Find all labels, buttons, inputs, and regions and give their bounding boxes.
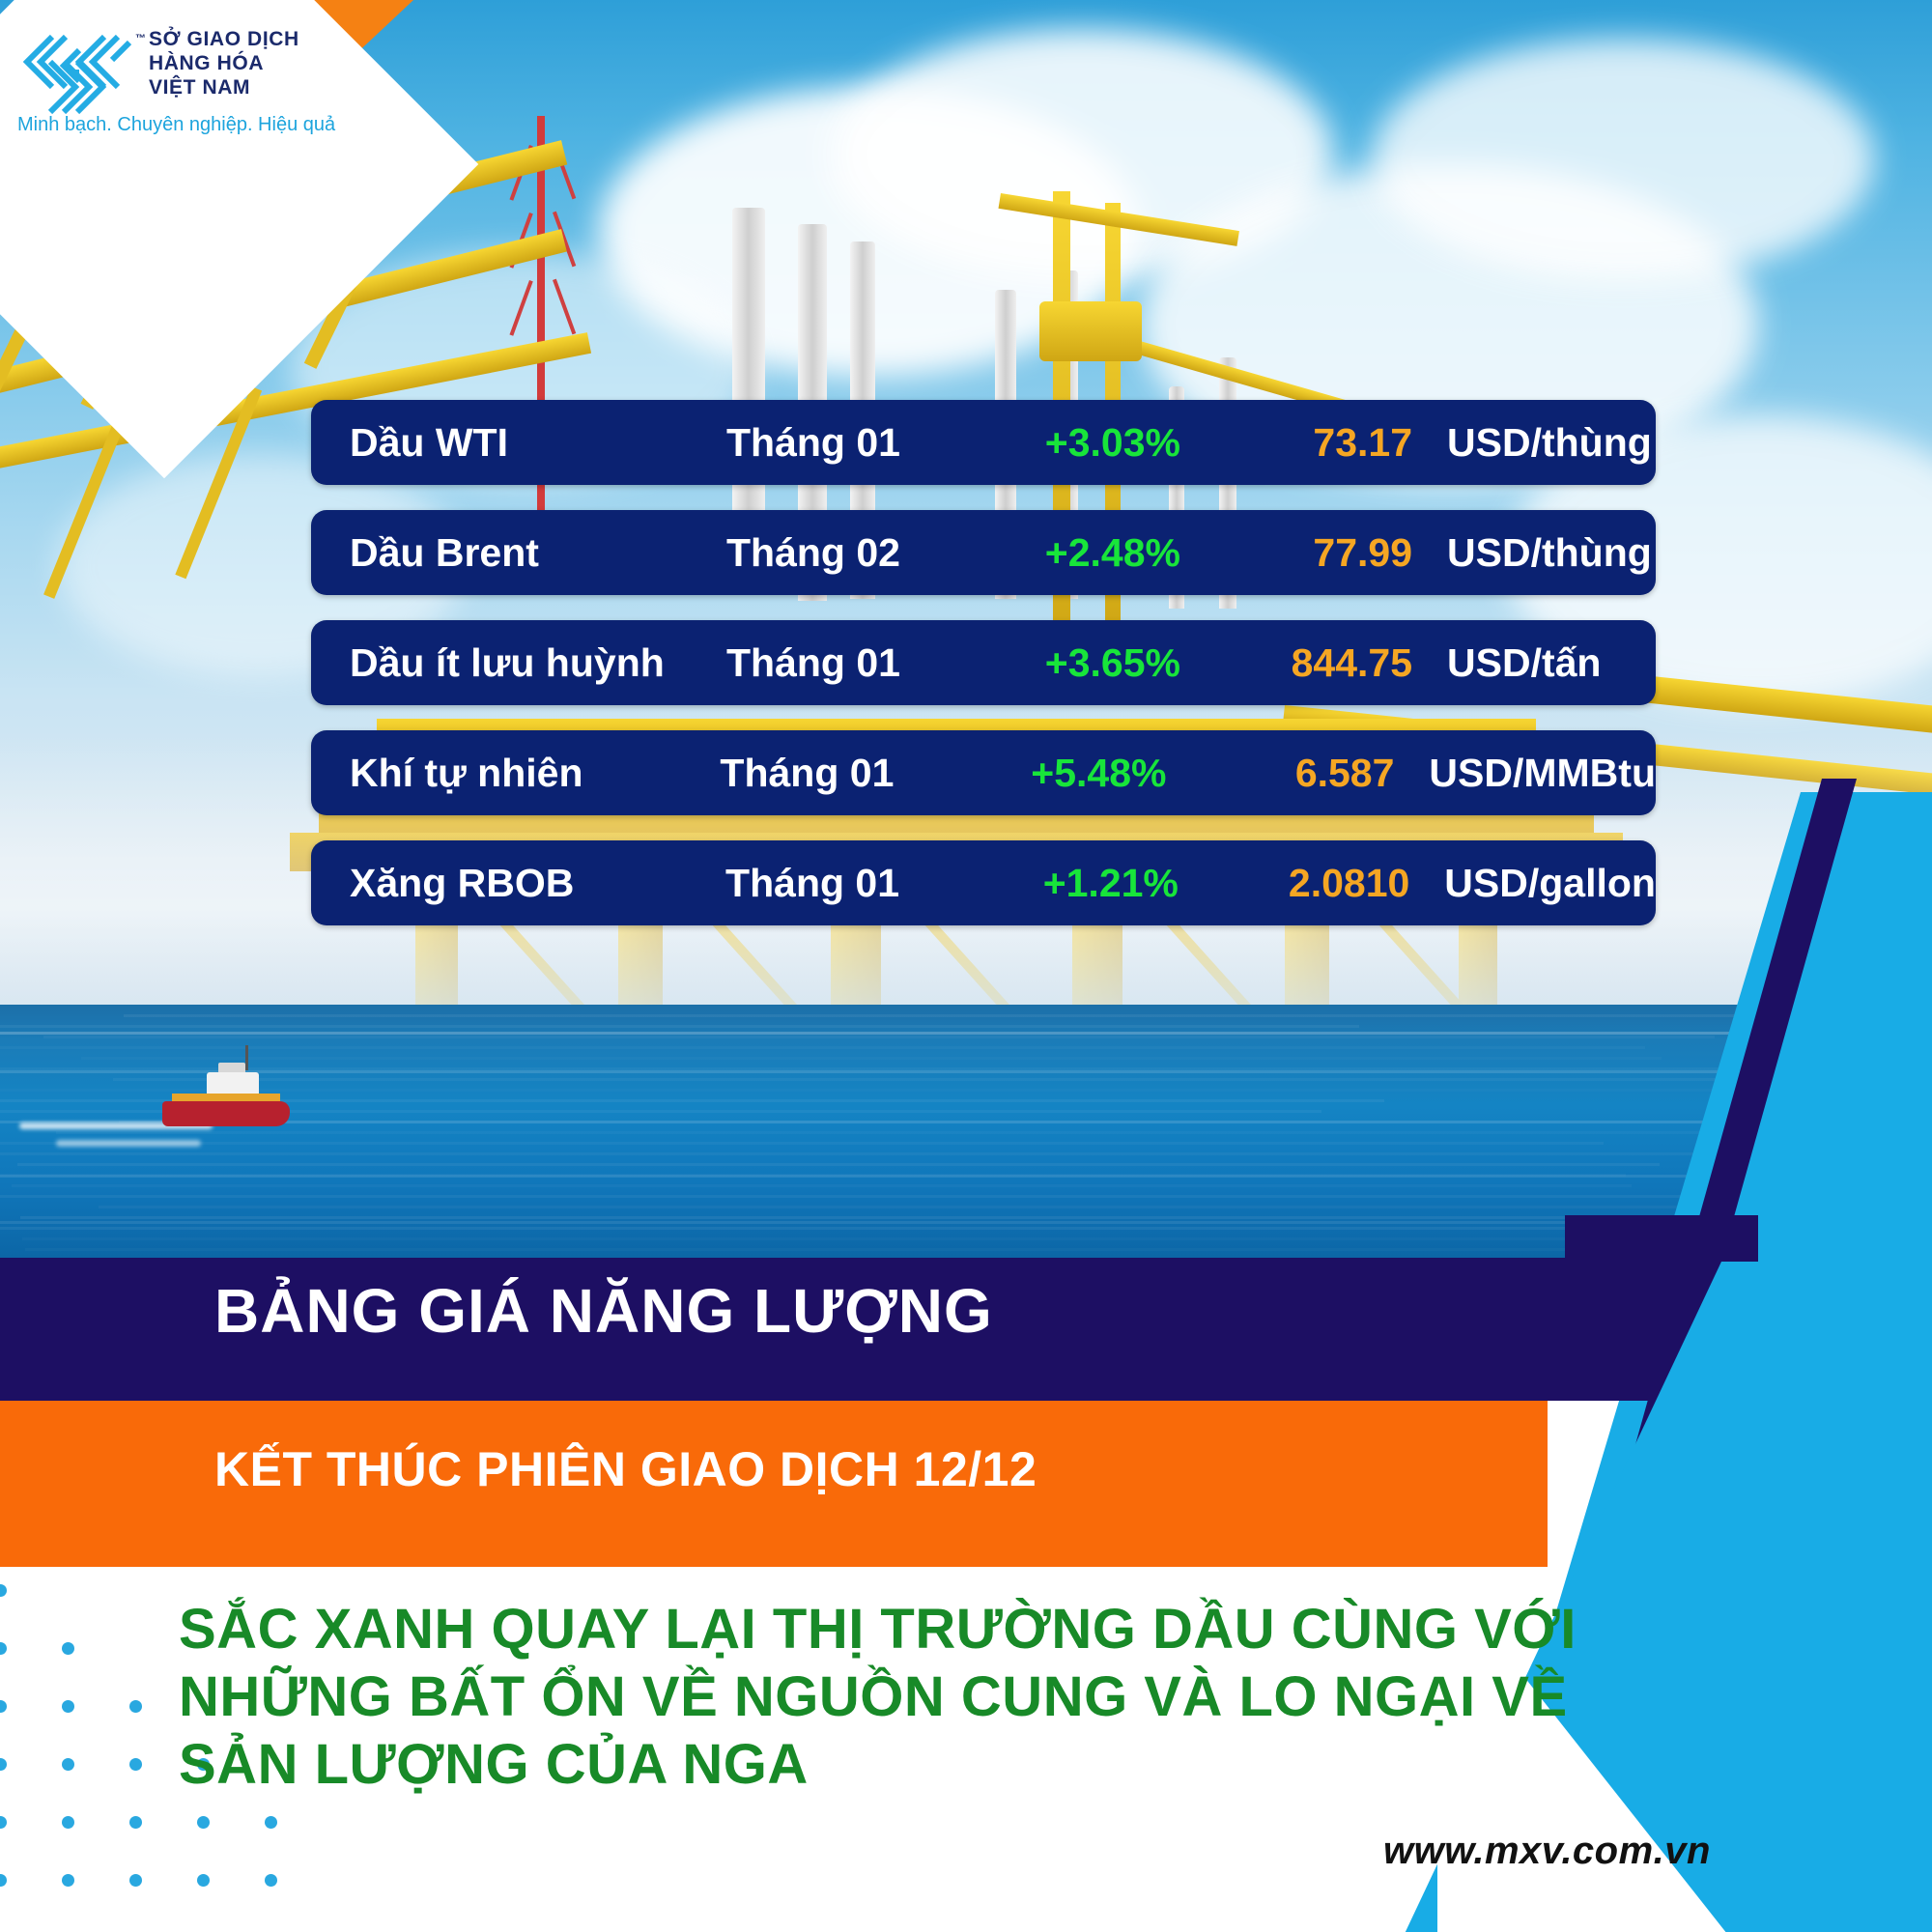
decorative-dot bbox=[62, 1642, 74, 1655]
change-percent: +5.48% bbox=[939, 751, 1167, 796]
trademark-symbol: ™ bbox=[135, 33, 146, 44]
sea-wave-line bbox=[0, 1195, 1708, 1198]
settlement-price: 6.587 bbox=[1166, 751, 1419, 796]
sea-wave-line bbox=[0, 1142, 1604, 1145]
sea-wave-line bbox=[0, 1067, 1932, 1070]
contract-month: Tháng 01 bbox=[726, 640, 949, 686]
sea-wave-line bbox=[119, 1121, 1875, 1123]
decorative-dot bbox=[0, 1642, 7, 1655]
news-headline: SẮC XANH QUAY LẠI THỊ TRƯỜNG DẦU CÙNG VỚ… bbox=[179, 1596, 1579, 1799]
mxv-logo-icon bbox=[21, 33, 133, 116]
price-unit: USD/MMBtu bbox=[1419, 751, 1656, 796]
decorative-dot bbox=[197, 1874, 210, 1887]
contract-month: Tháng 02 bbox=[726, 530, 949, 576]
settlement-price: 77.99 bbox=[1180, 530, 1437, 576]
change-percent: +3.65% bbox=[949, 640, 1180, 686]
decorative-dot bbox=[62, 1874, 74, 1887]
brand-tagline: Minh bạch. Chuyên nghiệp. Hiệu quả bbox=[17, 114, 335, 136]
crane-house bbox=[1039, 301, 1142, 361]
sea-wave-line bbox=[81, 1057, 1662, 1060]
sea-wave-line bbox=[43, 1036, 1715, 1038]
cloud-shape bbox=[1372, 39, 1874, 280]
contract-month: Tháng 01 bbox=[720, 751, 938, 796]
page-title: BẢNG GIÁ NĂNG LƯỢNG bbox=[214, 1277, 993, 1345]
brand-name-line-2: HÀNG HÓA bbox=[149, 51, 299, 75]
settlement-price: 2.0810 bbox=[1179, 861, 1435, 906]
commodity-name: Khí tự nhiên bbox=[311, 751, 720, 796]
price-unit: USD/thùng bbox=[1437, 420, 1656, 466]
sea-wave-line bbox=[113, 1078, 1932, 1081]
decorative-dot bbox=[197, 1816, 210, 1829]
decorative-dot bbox=[0, 1700, 7, 1713]
commodity-name: Dầu Brent bbox=[311, 530, 726, 576]
contract-month: Tháng 01 bbox=[726, 420, 949, 466]
sea-wave-line bbox=[0, 1025, 1359, 1028]
table-row[interactable]: Xăng RBOB Tháng 01 +1.21% 2.0810 USD/gal… bbox=[311, 840, 1656, 925]
table-row[interactable]: Dầu ít lưu huỳnh Tháng 01 +3.65% 844.75 … bbox=[311, 620, 1656, 705]
decorative-dot bbox=[0, 1874, 7, 1887]
sea-wave-line bbox=[0, 1089, 1932, 1092]
session-subtitle: KẾT THÚC PHIÊN GIAO DỊCH 12/12 bbox=[214, 1441, 1037, 1497]
sea-wave-line bbox=[124, 1014, 1932, 1017]
change-percent: +2.48% bbox=[949, 530, 1180, 576]
brand-name-line-3: VIỆT NAM bbox=[149, 75, 299, 99]
brand-name-line-1: SỞ GIAO DỊCH bbox=[149, 27, 299, 51]
decorative-dot bbox=[129, 1816, 142, 1829]
infographic-canvas: ™ SỞ GIAO DỊCH HÀNG HÓA VIỆT NAM Minh bạ… bbox=[0, 0, 1932, 1932]
sea-wave-line bbox=[17, 1163, 1661, 1166]
table-row[interactable]: Khí tự nhiên Tháng 01 +5.48% 6.587 USD/M… bbox=[311, 730, 1656, 815]
sea-wave-line bbox=[22, 1237, 1617, 1240]
decorative-dot bbox=[0, 1758, 7, 1771]
price-unit: USD/gallon bbox=[1435, 861, 1656, 906]
decorative-dot bbox=[0, 1584, 7, 1597]
decorative-dot bbox=[129, 1874, 142, 1887]
commodity-name: Dầu WTI bbox=[311, 420, 726, 466]
decorative-dot bbox=[129, 1700, 142, 1713]
website-url[interactable]: www.mxv.com.vn bbox=[1383, 1830, 1711, 1873]
price-unit: USD/thùng bbox=[1437, 530, 1656, 576]
sea-wave-line bbox=[99, 1206, 1932, 1208]
decorative-dot bbox=[265, 1816, 277, 1829]
table-row[interactable]: Dầu Brent Tháng 02 +2.48% 77.99 USD/thùn… bbox=[311, 510, 1656, 595]
decorative-dot bbox=[62, 1816, 74, 1829]
commodity-name: Xăng RBOB bbox=[311, 861, 725, 906]
sea-wave-line bbox=[0, 1174, 1626, 1177]
decorative-dot bbox=[62, 1758, 74, 1771]
decorative-dot bbox=[0, 1816, 7, 1829]
settlement-price: 73.17 bbox=[1180, 420, 1437, 466]
change-percent: +3.03% bbox=[949, 420, 1180, 466]
sea-wave-line bbox=[56, 1131, 1932, 1134]
price-unit: USD/tấn bbox=[1437, 640, 1656, 686]
boat-icon bbox=[162, 1068, 290, 1128]
contract-month: Tháng 01 bbox=[725, 861, 947, 906]
settlement-price: 844.75 bbox=[1180, 640, 1437, 686]
energy-price-table: Dầu WTI Tháng 01 +3.03% 73.17 USD/thùng … bbox=[311, 400, 1656, 951]
change-percent: +1.21% bbox=[947, 861, 1178, 906]
sea-wave-line bbox=[0, 1227, 1770, 1230]
sea-wave-line bbox=[12, 1184, 1631, 1187]
navy-corner-block bbox=[1565, 1215, 1758, 1264]
table-row[interactable]: Dầu WTI Tháng 01 +3.03% 73.17 USD/thùng bbox=[311, 400, 1656, 485]
decorative-dot bbox=[62, 1700, 74, 1713]
commodity-name: Dầu ít lưu huỳnh bbox=[311, 640, 726, 686]
decorative-dot bbox=[265, 1874, 277, 1887]
sea-wave-line bbox=[0, 1152, 1932, 1155]
brand-name: SỞ GIAO DỊCH HÀNG HÓA VIỆT NAM bbox=[149, 27, 299, 99]
decorative-dot bbox=[129, 1758, 142, 1771]
